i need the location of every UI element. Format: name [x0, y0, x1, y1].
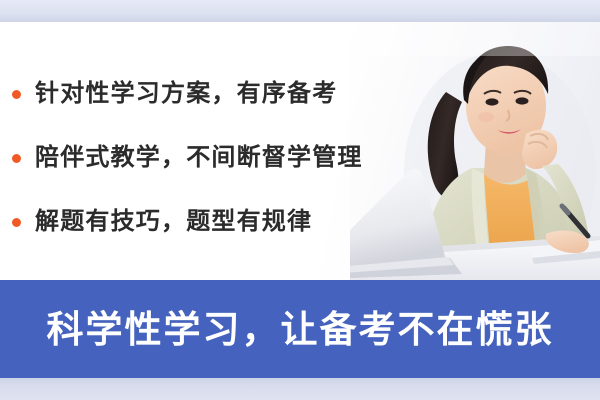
bottom-decorative-strip [0, 378, 600, 400]
promo-banner: 针对性学习方案，有序备考 陪伴式教学，不间断督学管理 解题有技巧，题型有规律 科… [0, 0, 600, 400]
banner-headline: 科学性学习，让备考不在慌张 [47, 311, 554, 348]
bullet-dot-icon [12, 154, 21, 163]
eye-right [516, 97, 529, 104]
list-item: 针对性学习方案，有序备考 [12, 62, 402, 126]
feature-text: 针对性学习方案，有序备考 [35, 82, 337, 106]
top-decorative-strip [0, 0, 600, 22]
bullet-dot-icon [12, 90, 21, 99]
list-item: 陪伴式教学，不间断督学管理 [12, 126, 402, 190]
feature-text: 解题有技巧，题型有规律 [35, 210, 312, 234]
feature-text: 陪伴式教学，不间断督学管理 [35, 146, 363, 170]
list-item: 解题有技巧，题型有规律 [12, 190, 402, 254]
bullet-dot-icon [12, 218, 21, 227]
headline-banner: 科学性学习，让备考不在慌张 [0, 280, 600, 378]
feature-list: 针对性学习方案，有序备考 陪伴式教学，不间断督学管理 解题有技巧，题型有规律 [12, 62, 402, 254]
eye-left [486, 98, 499, 105]
content-stage: 针对性学习方案，有序备考 陪伴式教学，不间断督学管理 解题有技巧，题型有规律 [0, 22, 600, 280]
